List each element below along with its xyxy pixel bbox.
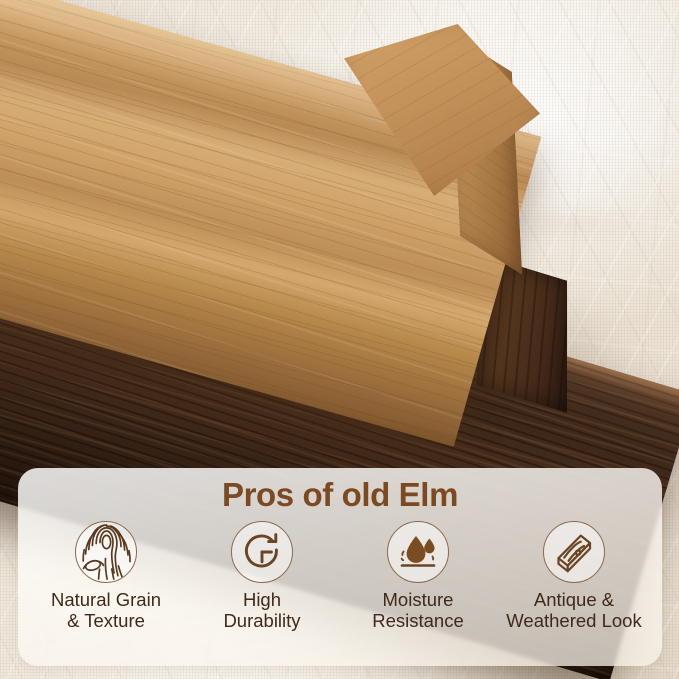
water-droplet-icon xyxy=(387,521,449,583)
feature-natural-grain[interactable]: Natural Grain & Texture xyxy=(28,521,184,632)
feature-list: Natural Grain & Texture High Durability xyxy=(18,521,662,632)
feature-label: Antique & Weathered Look xyxy=(506,590,641,632)
feature-label: Natural Grain & Texture xyxy=(51,590,161,632)
feature-label: Moisture Resistance xyxy=(372,590,464,632)
clock-rotate-icon xyxy=(231,521,293,583)
wood-grain-icon xyxy=(75,521,137,583)
feature-moisture-resistance[interactable]: Moisture Resistance xyxy=(340,521,496,632)
feature-high-durability[interactable]: High Durability xyxy=(184,521,340,632)
feature-label: High Durability xyxy=(223,590,300,632)
wood-plank-icon xyxy=(543,521,605,583)
pros-panel: Pros of old Elm xyxy=(18,468,662,666)
feature-antique-weathered[interactable]: Antique & Weathered Look xyxy=(496,521,652,632)
product-infographic: Pros of old Elm xyxy=(0,0,679,679)
panel-title: Pros of old Elm xyxy=(222,478,458,511)
